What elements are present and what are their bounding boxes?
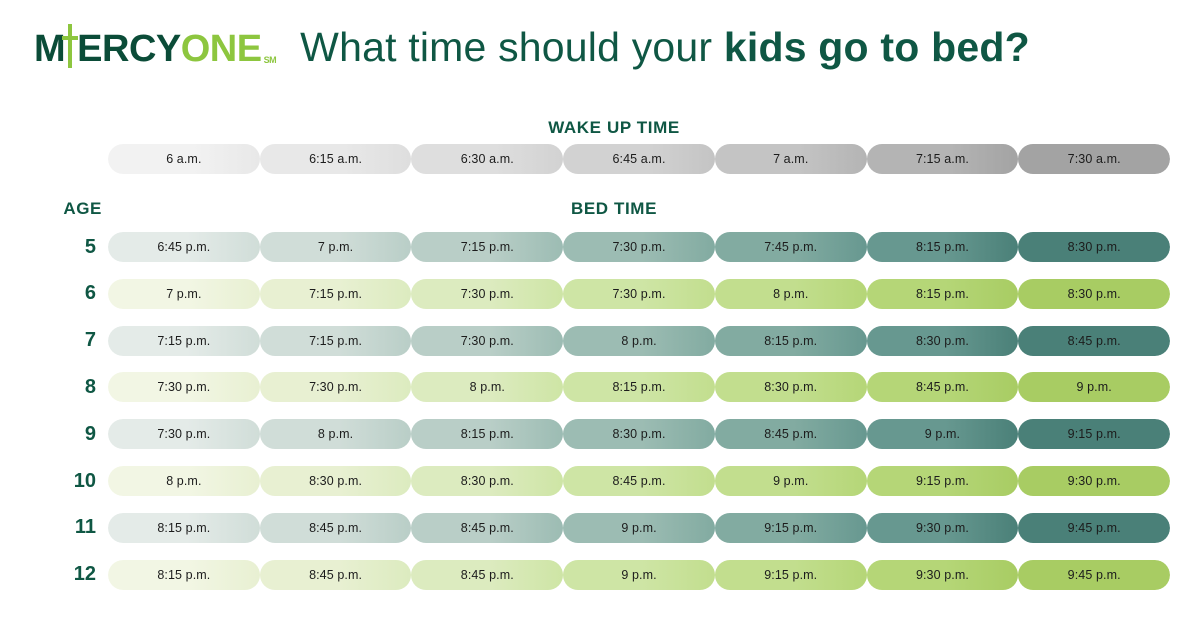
bed-time-text: 9:15 p.m.: [916, 474, 969, 488]
bed-time-cell: 8 p.m.: [563, 326, 715, 356]
wake-up-time-cell: 7 a.m.: [715, 144, 867, 174]
bed-time-text: 8:45 p.m.: [613, 474, 666, 488]
bed-time-text: 7:30 p.m.: [461, 334, 514, 348]
bed-time-text: 7 p.m.: [318, 240, 353, 254]
wake-up-time-text: 6:45 a.m.: [613, 152, 666, 166]
bed-time-text: 7:30 p.m.: [309, 380, 362, 394]
bed-time-cell: 8:30 p.m.: [411, 466, 563, 496]
bed-time-row-age-7: 7:15 p.m.7:15 p.m.7:30 p.m.8 p.m.8:15 p.…: [108, 326, 1170, 356]
wake-up-time-text: 6:15 a.m.: [309, 152, 362, 166]
bed-time-cell: 7:15 p.m.: [411, 232, 563, 262]
wake-up-time-text: 7 a.m.: [773, 152, 808, 166]
bed-time-cell: 8:45 p.m.: [1018, 326, 1170, 356]
bed-time-cell: 7:30 p.m.: [563, 279, 715, 309]
bed-time-cell: 8:15 p.m.: [867, 279, 1019, 309]
bed-time-label: BED TIME: [0, 199, 1200, 219]
bed-time-text: 8:30 p.m.: [309, 474, 362, 488]
bed-time-text: 9:15 p.m.: [764, 568, 817, 582]
bed-time-cell: 9:45 p.m.: [1018, 560, 1170, 590]
age-label-6: 6: [30, 279, 96, 309]
bed-time-cell: 7:15 p.m.: [260, 326, 412, 356]
bed-time-text: 9 p.m.: [1077, 380, 1112, 394]
bed-time-text: 9 p.m.: [621, 568, 656, 582]
bed-time-text: 9 p.m.: [773, 474, 808, 488]
bed-time-cell: 8:30 p.m.: [715, 372, 867, 402]
bed-time-row-age-8: 7:30 p.m.7:30 p.m.8 p.m.8:15 p.m.8:30 p.…: [108, 372, 1170, 402]
bed-time-text: 7 p.m.: [166, 287, 201, 301]
wake-up-time-cell: 7:15 a.m.: [867, 144, 1019, 174]
bed-time-cell: 8:45 p.m.: [563, 466, 715, 496]
age-label-8: 8: [30, 372, 96, 402]
bed-time-text: 9:45 p.m.: [1068, 521, 1121, 535]
bed-time-text: 8:15 p.m.: [916, 240, 969, 254]
bed-time-cell: 7:30 p.m.: [108, 372, 260, 402]
page-title-bold: kids go to bed?: [724, 24, 1030, 70]
bed-time-text: 8:30 p.m.: [1068, 240, 1121, 254]
bed-time-cell: 7 p.m.: [260, 232, 412, 262]
bed-time-row-age-11: 8:15 p.m.8:45 p.m.8:45 p.m.9 p.m.9:15 p.…: [108, 513, 1170, 543]
bed-time-cell: 7:30 p.m.: [260, 372, 412, 402]
bed-time-text: 7:30 p.m.: [157, 427, 210, 441]
bed-time-text: 8:45 p.m.: [1068, 334, 1121, 348]
bed-time-cell: 6:45 p.m.: [108, 232, 260, 262]
bed-time-text: 9:45 p.m.: [1068, 568, 1121, 582]
bed-time-text: 8:30 p.m.: [613, 427, 666, 441]
bed-time-text: 8 p.m.: [318, 427, 353, 441]
bed-time-cell: 8 p.m.: [108, 466, 260, 496]
bed-time-text: 8:15 p.m.: [157, 568, 210, 582]
wake-up-time-text: 7:30 a.m.: [1068, 152, 1121, 166]
bed-time-text: 8:15 p.m.: [461, 427, 514, 441]
wake-up-time-cell: 6:15 a.m.: [260, 144, 412, 174]
bed-time-cell: 7:45 p.m.: [715, 232, 867, 262]
bed-time-text: 7:15 p.m.: [461, 240, 514, 254]
bed-time-text: 7:45 p.m.: [764, 240, 817, 254]
bed-time-text: 8:15 p.m.: [157, 521, 210, 535]
bed-time-cell: 7 p.m.: [108, 279, 260, 309]
bed-time-text: 8:45 p.m.: [764, 427, 817, 441]
bed-time-cell: 9 p.m.: [563, 560, 715, 590]
bed-time-text: 8:45 p.m.: [916, 380, 969, 394]
bed-time-text: 8:30 p.m.: [916, 334, 969, 348]
wake-up-time-text: 7:15 a.m.: [916, 152, 969, 166]
wake-up-time-text: 6 a.m.: [166, 152, 201, 166]
bed-time-text: 8:45 p.m.: [461, 521, 514, 535]
bed-time-row-age-5: 6:45 p.m.7 p.m.7:15 p.m.7:30 p.m.7:45 p.…: [108, 232, 1170, 262]
bed-time-row-age-6: 7 p.m.7:15 p.m.7:30 p.m.7:30 p.m.8 p.m.8…: [108, 279, 1170, 309]
bed-time-text: 6:45 p.m.: [157, 240, 210, 254]
bed-time-cell: 7:15 p.m.: [108, 326, 260, 356]
bed-time-cell: 9 p.m.: [563, 513, 715, 543]
bed-time-cell: 8 p.m.: [715, 279, 867, 309]
bed-time-text: 8 p.m.: [470, 380, 505, 394]
age-label-11: 11: [30, 513, 96, 543]
bed-time-cell: 9:15 p.m.: [867, 466, 1019, 496]
bed-time-cell: 8:15 p.m.: [563, 372, 715, 402]
bed-time-text: 7:30 p.m.: [461, 287, 514, 301]
age-label-12: 12: [30, 560, 96, 590]
bed-time-cell: 8:30 p.m.: [563, 419, 715, 449]
bed-time-cell: 8:45 p.m.: [260, 513, 412, 543]
bed-time-cell: 8:30 p.m.: [260, 466, 412, 496]
bed-time-cell: 8:45 p.m.: [411, 513, 563, 543]
bed-time-cell: 9:15 p.m.: [1018, 419, 1170, 449]
wake-up-time-cell: 6 a.m.: [108, 144, 260, 174]
bed-time-cell: 8:45 p.m.: [411, 560, 563, 590]
page-header: M ERCY ONE SM What time should your kids…: [0, 0, 1200, 104]
bed-time-text: 8:45 p.m.: [461, 568, 514, 582]
bed-time-text: 9:15 p.m.: [764, 521, 817, 535]
bed-time-text: 8:30 p.m.: [764, 380, 817, 394]
wake-up-time-cell: 6:45 a.m.: [563, 144, 715, 174]
bed-time-row-age-10: 8 p.m.8:30 p.m.8:30 p.m.8:45 p.m.9 p.m.9…: [108, 466, 1170, 496]
bed-time-cell: 9:30 p.m.: [867, 513, 1019, 543]
bed-time-text: 8:15 p.m.: [916, 287, 969, 301]
bed-time-cell: 7:15 p.m.: [260, 279, 412, 309]
bed-time-row-age-9: 7:30 p.m.8 p.m.8:15 p.m.8:30 p.m.8:45 p.…: [108, 419, 1170, 449]
wake-up-time-label: WAKE UP TIME: [0, 118, 1200, 138]
age-label-10: 10: [30, 466, 96, 496]
bed-time-cell: 9 p.m.: [867, 419, 1019, 449]
bed-time-cell: 8:30 p.m.: [1018, 232, 1170, 262]
bed-time-cell: 8:15 p.m.: [411, 419, 563, 449]
age-label-5: 5: [30, 232, 96, 262]
bed-time-cell: 9:15 p.m.: [715, 513, 867, 543]
bed-time-text: 9:30 p.m.: [916, 521, 969, 535]
age-label-7: 7: [30, 326, 96, 356]
bed-time-cell: 9 p.m.: [1018, 372, 1170, 402]
bed-time-text: 8:15 p.m.: [764, 334, 817, 348]
bed-time-cell: 8:15 p.m.: [715, 326, 867, 356]
infographic-page: M ERCY ONE SM What time should your kids…: [0, 0, 1200, 628]
bed-time-cell: 8:15 p.m.: [108, 513, 260, 543]
bed-time-cell: 9:45 p.m.: [1018, 513, 1170, 543]
bed-time-text: 8:45 p.m.: [309, 568, 362, 582]
bed-time-cell: 7:30 p.m.: [108, 419, 260, 449]
bed-time-cell: 7:30 p.m.: [563, 232, 715, 262]
bed-time-cell: 8:45 p.m.: [867, 372, 1019, 402]
wake-up-time-cell: 7:30 a.m.: [1018, 144, 1170, 174]
page-title-plain: What time should your: [300, 24, 724, 70]
bed-time-cell: 8:15 p.m.: [867, 232, 1019, 262]
bed-time-text: 9 p.m.: [621, 521, 656, 535]
bed-time-text: 7:30 p.m.: [613, 240, 666, 254]
wake-up-time-cell: 6:30 a.m.: [411, 144, 563, 174]
bed-time-text: 8 p.m.: [166, 474, 201, 488]
bed-time-text: 7:15 p.m.: [309, 287, 362, 301]
bed-time-text: 8:30 p.m.: [461, 474, 514, 488]
wake-up-time-text: 6:30 a.m.: [461, 152, 514, 166]
bed-time-text: 9:30 p.m.: [916, 568, 969, 582]
bed-time-text: 7:30 p.m.: [613, 287, 666, 301]
bed-time-row-age-12: 8:15 p.m.8:45 p.m.8:45 p.m.9 p.m.9:15 p.…: [108, 560, 1170, 590]
bed-time-cell: 8:45 p.m.: [260, 560, 412, 590]
bed-time-cell: 9:15 p.m.: [715, 560, 867, 590]
age-column-label: AGE: [40, 199, 102, 219]
bed-time-text: 8:45 p.m.: [309, 521, 362, 535]
bed-time-text: 7:15 p.m.: [309, 334, 362, 348]
age-label-9: 9: [30, 419, 96, 449]
bed-time-text: 9:30 p.m.: [1068, 474, 1121, 488]
bed-time-text: 8:30 p.m.: [1068, 287, 1121, 301]
bed-time-cell: 9 p.m.: [715, 466, 867, 496]
bed-time-cell: 8:15 p.m.: [108, 560, 260, 590]
bed-time-cell: 8:45 p.m.: [715, 419, 867, 449]
bed-time-cell: 8:30 p.m.: [1018, 279, 1170, 309]
wake-up-time-bar: 6 a.m.6:15 a.m.6:30 a.m.6:45 a.m.7 a.m.7…: [108, 144, 1170, 174]
bed-time-cell: 7:30 p.m.: [411, 279, 563, 309]
bed-time-text: 8 p.m.: [621, 334, 656, 348]
bed-time-text: 9 p.m.: [925, 427, 960, 441]
bed-time-cell: 9:30 p.m.: [867, 560, 1019, 590]
bed-time-text: 9:15 p.m.: [1068, 427, 1121, 441]
bed-time-text: 8:15 p.m.: [613, 380, 666, 394]
bed-time-cell: 9:30 p.m.: [1018, 466, 1170, 496]
page-title: What time should your kids go to bed?: [0, 24, 1200, 71]
bed-time-cell: 8 p.m.: [411, 372, 563, 402]
bed-time-cell: 7:30 p.m.: [411, 326, 563, 356]
bed-time-text: 7:30 p.m.: [157, 380, 210, 394]
bed-time-text: 7:15 p.m.: [157, 334, 210, 348]
bed-time-text: 8 p.m.: [773, 287, 808, 301]
bed-time-cell: 8:30 p.m.: [867, 326, 1019, 356]
bed-time-cell: 8 p.m.: [260, 419, 412, 449]
